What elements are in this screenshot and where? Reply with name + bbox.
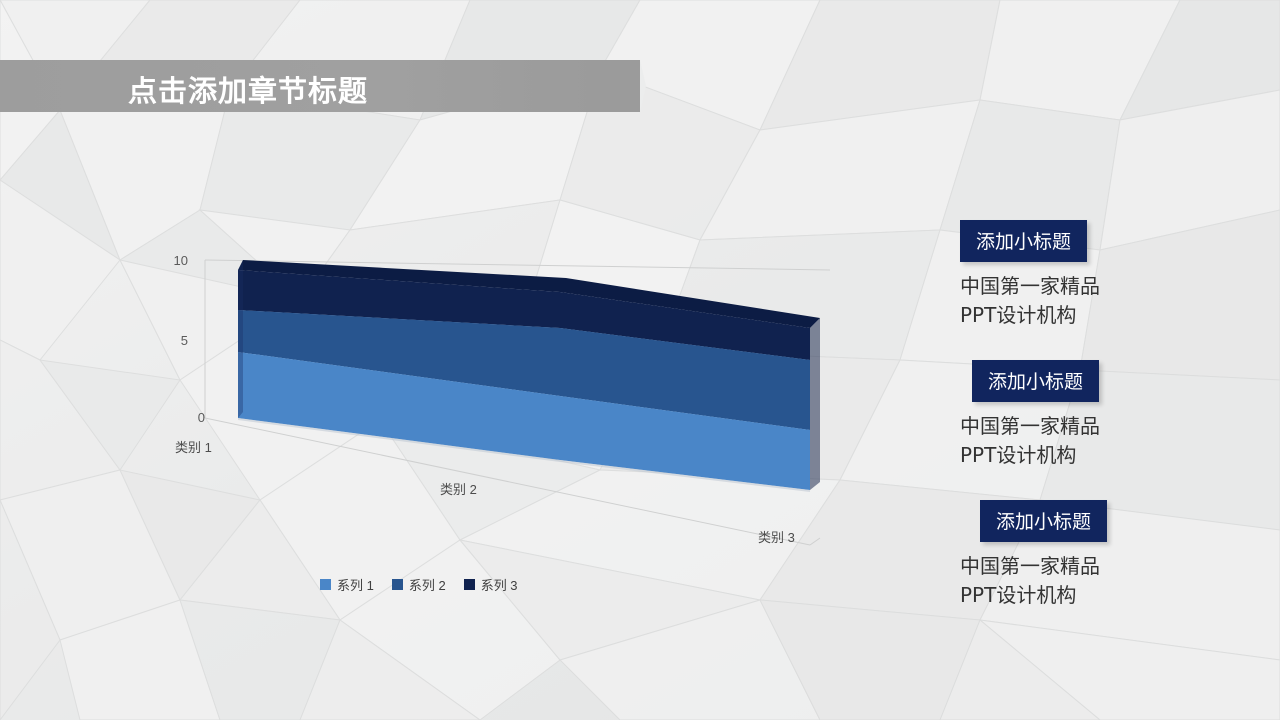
side-block-3-line-2: PPT设计机构 <box>960 581 1260 610</box>
side-content: 添加小标题 中国第一家精品 PPT设计机构 添加小标题 中国第一家精品 PPT设… <box>960 220 1260 640</box>
side-block-3-body: 中国第一家精品 PPT设计机构 <box>960 552 1260 610</box>
side-block-2-line-1: 中国第一家精品 <box>960 412 1260 441</box>
side-block-2-line-2: PPT设计机构 <box>960 441 1260 470</box>
legend-swatch-series-2 <box>392 579 403 590</box>
title-band-notch <box>600 60 660 112</box>
side-block-1-heading: 添加小标题 <box>960 220 1087 262</box>
side-block-3: 添加小标题 中国第一家精品 PPT设计机构 <box>960 500 1260 610</box>
side-block-3-line-1: 中国第一家精品 <box>960 552 1260 581</box>
chart-3d-stacked-area: 10 5 0 类别 1 类别 2 类别 3 <box>110 200 890 620</box>
xtick-label-1: 类别 1 <box>175 440 212 455</box>
chart-legend: 系列 1 系列 2 系列 3 <box>320 575 518 594</box>
legend-swatch-series-3 <box>464 579 475 590</box>
page-title: 点击添加章节标题 <box>128 68 368 110</box>
chart-right-cap <box>810 318 820 490</box>
side-block-2-heading: 添加小标题 <box>972 360 1099 402</box>
legend-label-series-3: 系列 3 <box>481 575 518 594</box>
ytick-label-5: 5 <box>181 333 188 348</box>
legend-item-series-1: 系列 1 <box>320 575 374 594</box>
side-block-1-line-1: 中国第一家精品 <box>960 272 1260 301</box>
side-block-1-line-2: PPT设计机构 <box>960 301 1260 330</box>
legend-item-series-3: 系列 3 <box>464 575 518 594</box>
xtick-label-2: 类别 2 <box>440 482 477 497</box>
legend-swatch-series-1 <box>320 579 331 590</box>
side-block-2-body: 中国第一家精品 PPT设计机构 <box>960 412 1260 470</box>
side-block-3-heading: 添加小标题 <box>980 500 1107 542</box>
side-block-1: 添加小标题 中国第一家精品 PPT设计机构 <box>960 220 1260 330</box>
ytick-label-10: 10 <box>174 253 188 268</box>
xtick-label-3: 类别 3 <box>758 530 795 545</box>
legend-item-series-2: 系列 2 <box>392 575 446 594</box>
legend-label-series-1: 系列 1 <box>337 575 374 594</box>
legend-label-series-2: 系列 2 <box>409 575 446 594</box>
side-block-2: 添加小标题 中国第一家精品 PPT设计机构 <box>960 360 1260 470</box>
ytick-label-0: 0 <box>198 410 205 425</box>
chart-left-cap <box>238 260 243 418</box>
side-block-1-body: 中国第一家精品 PPT设计机构 <box>960 272 1260 330</box>
